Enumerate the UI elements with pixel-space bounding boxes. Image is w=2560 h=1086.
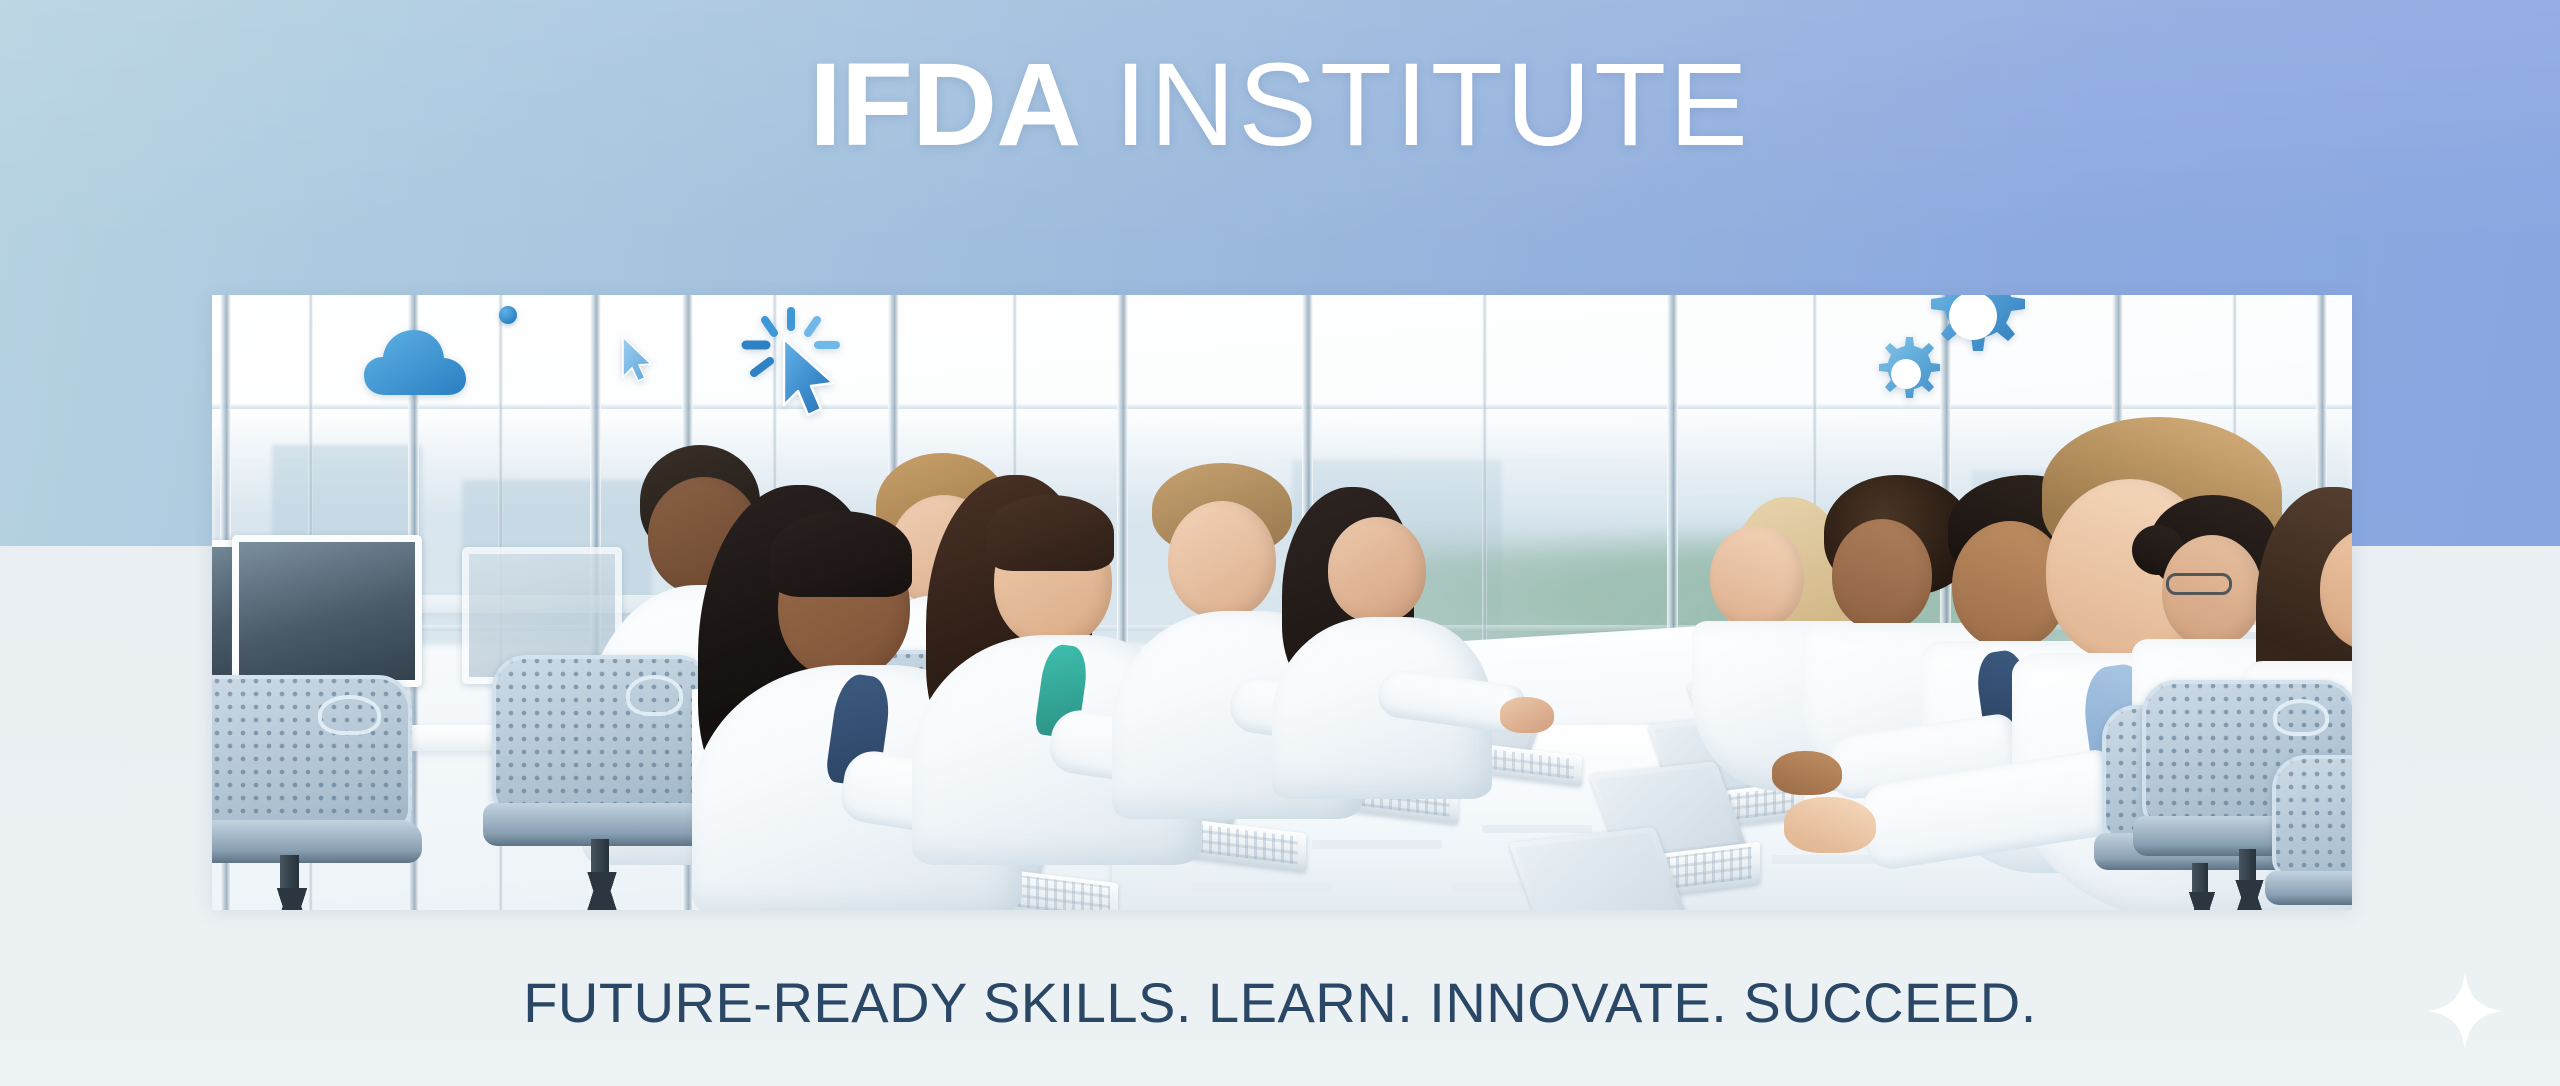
chair-legs (501, 872, 703, 910)
hand (1500, 697, 1554, 733)
office-chair (2272, 755, 2352, 910)
hair-front (986, 495, 1114, 571)
table-seam (1772, 855, 1882, 864)
ifda-institute-banner: IFDA INSTITUTE (0, 0, 2560, 1086)
chair-back (2272, 755, 2352, 879)
head (1168, 501, 1276, 619)
office-chair (212, 675, 412, 910)
chair-handle (626, 675, 683, 716)
chair-seat (212, 820, 422, 863)
monitor-screen (232, 535, 422, 687)
laptop (1452, 843, 1712, 910)
student (1272, 481, 1492, 801)
head (1832, 519, 1932, 631)
hand (1772, 751, 1842, 795)
cloud-icon (362, 323, 470, 401)
hero-photo (212, 295, 2352, 910)
window-transom (212, 403, 2352, 409)
head (1328, 517, 1426, 623)
tagline-text: FUTURE-READY SKILLS. LEARN. INNOVATE. SU… (523, 970, 2037, 1035)
gear-small-icon (1867, 335, 1945, 413)
table-seam (1312, 840, 1442, 849)
chair-legs (212, 888, 402, 911)
chair-back (492, 655, 712, 813)
photo-scene (212, 295, 2352, 910)
sparkle-icon (2426, 971, 2504, 1056)
tagline: FUTURE-READY SKILLS. LEARN. INNOVATE. SU… (0, 970, 2560, 1035)
table-seam (1192, 883, 1332, 893)
head (1710, 525, 1804, 629)
cursor-small-icon (620, 335, 654, 383)
chair-handle (318, 695, 380, 735)
hair-front (770, 511, 912, 597)
dot-icon (499, 306, 517, 324)
laptop-screen (1515, 833, 1682, 910)
hand (1784, 797, 1876, 853)
chair-handle (2273, 699, 2329, 737)
glasses-icon (2166, 573, 2232, 595)
cursor-click-icon (732, 307, 850, 419)
chair-back (212, 675, 412, 830)
office-chair (492, 655, 712, 910)
chair-seat (2265, 871, 2352, 905)
